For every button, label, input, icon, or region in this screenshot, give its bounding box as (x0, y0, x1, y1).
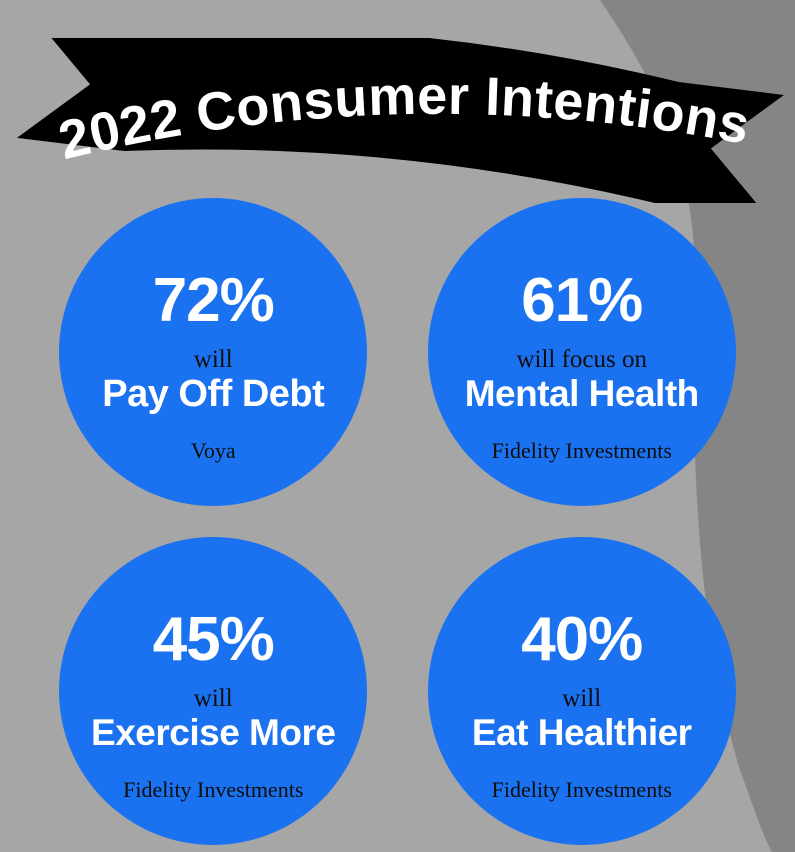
stat-action-label: Exercise More (91, 714, 335, 753)
stat-percent: 40% (521, 609, 642, 671)
stat-circle-mental-health: 61% will focus on Mental Health Fidelity… (428, 198, 736, 506)
stat-action-label: Pay Off Debt (102, 375, 324, 415)
stat-will-label: will (194, 685, 233, 713)
stat-action-label: Mental Health (465, 375, 699, 414)
stat-percent: 72% (153, 270, 274, 332)
stat-source-label: Fidelity Investments (59, 779, 367, 801)
infographic-canvas: 2022 Consumer Intentions 72% will Pay Of… (0, 0, 795, 852)
stat-will-label: will (562, 685, 601, 713)
stat-circle-eat-healthier: 40% will Eat Healthier Fidelity Investme… (428, 537, 736, 845)
stat-will-label: will focus on (516, 346, 647, 374)
stat-percent: 61% (521, 270, 642, 332)
stats-grid: 72% will Pay Off Debt Voya 61% will focu… (0, 196, 795, 846)
stat-circle-pay-off-debt: 72% will Pay Off Debt Voya (59, 198, 367, 506)
stat-will-label: will (194, 346, 233, 374)
stat-action-label: Eat Healthier (472, 714, 692, 753)
stat-percent: 45% (153, 609, 274, 671)
stat-source-label: Voya (59, 440, 367, 462)
stat-circle-exercise-more: 45% will Exercise More Fidelity Investme… (59, 537, 367, 845)
stat-source-label: Fidelity Investments (428, 440, 736, 462)
stat-source-label: Fidelity Investments (428, 779, 736, 801)
